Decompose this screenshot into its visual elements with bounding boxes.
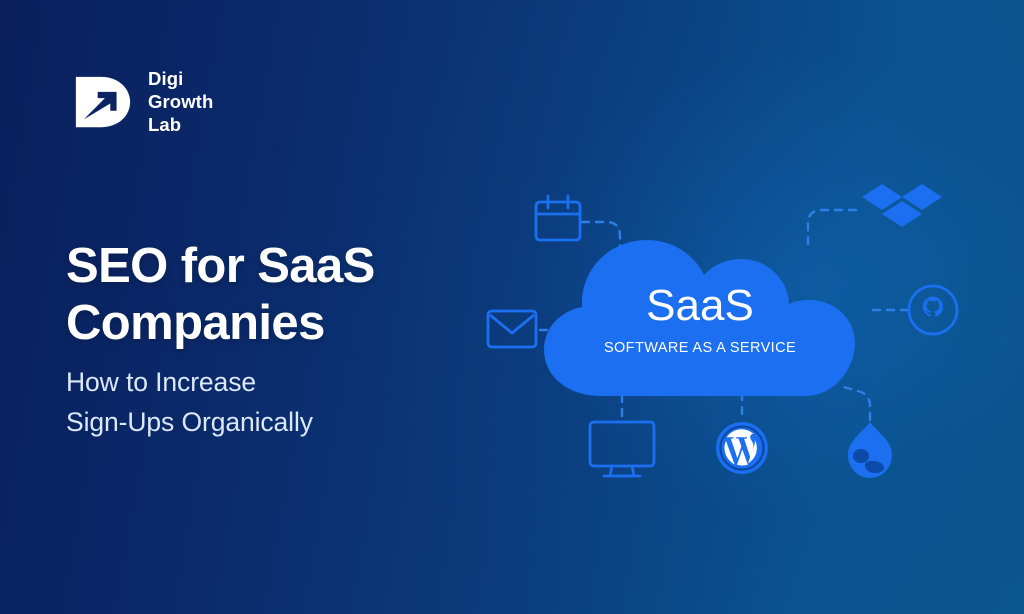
cloud-title: SaaS bbox=[646, 281, 754, 330]
page-title: SEO for SaaS Companies bbox=[66, 238, 375, 352]
connector-dropbox bbox=[808, 210, 856, 248]
calendar-icon[interactable] bbox=[536, 196, 580, 240]
subhead-line-1: How to Increase bbox=[66, 362, 313, 402]
brand-logo[interactable]: Digi Growth Lab bbox=[72, 68, 213, 136]
headline-line-2: Companies bbox=[66, 295, 375, 352]
brand-word-3: Lab bbox=[148, 114, 213, 137]
saas-cloud-svg: SaaS SOFTWARE AS A SERVICE bbox=[470, 170, 980, 490]
cloud-subtitle: SOFTWARE AS A SERVICE bbox=[604, 340, 796, 356]
page-subtitle: How to Increase Sign-Ups Organically bbox=[66, 362, 313, 443]
saas-cloud-illustration: SaaS SOFTWARE AS A SERVICE bbox=[470, 170, 980, 490]
monitor-icon[interactable] bbox=[590, 422, 654, 476]
connector-drupal bbox=[840, 386, 870, 420]
wordpress-icon[interactable] bbox=[716, 422, 768, 474]
headline-line-1: SEO for SaaS bbox=[66, 238, 375, 295]
brand-wordmark: Digi Growth Lab bbox=[148, 68, 213, 136]
brand-word-1: Digi bbox=[148, 68, 213, 91]
brand-word-2: Growth bbox=[148, 91, 213, 114]
drupal-icon[interactable] bbox=[848, 422, 892, 478]
dropbox-icon[interactable] bbox=[862, 184, 942, 227]
subhead-line-2: Sign-Ups Organically bbox=[66, 402, 313, 442]
digi-growth-lab-d-arrow-mark bbox=[72, 71, 134, 133]
mail-icon[interactable] bbox=[488, 311, 536, 347]
github-icon[interactable] bbox=[909, 286, 957, 334]
seo-saas-banner: Digi Growth Lab SEO for SaaS Companies H… bbox=[0, 0, 1024, 614]
